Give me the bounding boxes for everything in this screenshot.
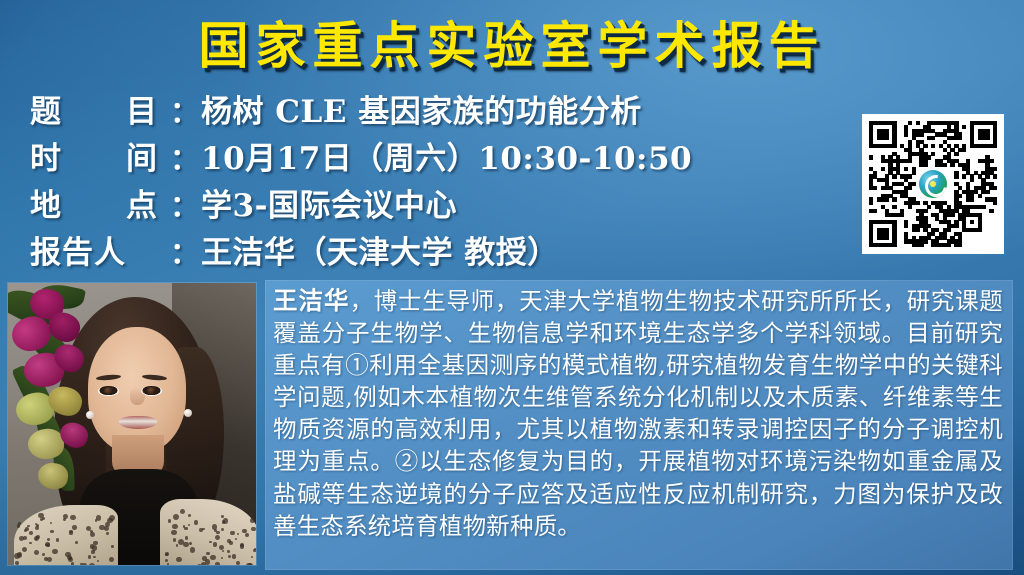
photo-lace-detail <box>210 555 216 561</box>
info-label-speaker: 报告人 <box>30 227 170 272</box>
photo-lace-detail <box>194 520 199 525</box>
photo-lace-detail <box>29 531 33 535</box>
photo-lace-detail <box>216 531 220 535</box>
photo-lace-detail <box>42 517 45 520</box>
photo-lace-detail <box>165 553 168 556</box>
info-colon-speaker: ： <box>170 230 199 272</box>
photo-lace-detail <box>109 515 115 521</box>
photo-lace-detail <box>90 530 93 533</box>
photo-lace-detail <box>183 542 189 548</box>
photo-lace-detail <box>93 556 95 558</box>
info-row-topic: 题 目 ： 杨树 CLE 基因家族的功能分析 <box>30 86 840 133</box>
photo-lace-detail <box>227 539 231 543</box>
photo-lace-detail <box>228 555 231 558</box>
photo-lace-detail <box>106 532 109 535</box>
photo-lace-detail <box>23 536 27 540</box>
photo-lace-detail <box>56 538 60 542</box>
poster-title-bar: 国家重点实验室学术报告 <box>0 8 1024 84</box>
photo-lace-detail <box>242 529 247 534</box>
speaker-photo-scene <box>8 283 256 565</box>
info-row-speaker: 报告人 ： 王洁华 （天津大学 教授） <box>30 227 840 274</box>
qr-code[interactable] <box>862 114 1004 254</box>
photo-lace-detail <box>206 552 210 556</box>
photo-lace-detail <box>230 531 235 536</box>
qr-logo-icon <box>916 167 950 201</box>
seminar-poster: 国家重点实验室学术报告 题 目 ： 杨树 CLE 基因家族的功能分析 时 间 ：… <box>0 0 1024 575</box>
photo-lace-detail <box>221 557 223 559</box>
photo-lace-detail <box>236 561 240 565</box>
speaker-bio-text: 王洁华，博士生导师，天津大学植物生物技术研究所所长，研究课题覆盖分子生物学、生物… <box>273 285 1003 542</box>
photo-lace-detail <box>82 563 87 565</box>
info-colon-location: ： <box>170 183 199 225</box>
photo-lace-detail <box>104 526 109 531</box>
photo-lace-detail <box>167 563 169 565</box>
photo-earring-right <box>184 409 192 417</box>
speaker-bio-panel: 王洁华，博士生导师，天津大学植物生物技术研究所所长，研究课题覆盖分子生物学、生物… <box>265 280 1013 570</box>
photo-lace-detail <box>22 547 27 552</box>
photo-lace-detail <box>215 562 220 565</box>
info-colon-topic: ： <box>170 89 199 131</box>
speaker-photo <box>8 283 256 565</box>
photo-lace-detail <box>93 541 97 545</box>
info-value-speaker-affiliation: （天津大学 教授） <box>296 227 559 272</box>
photo-lace-detail <box>69 531 73 535</box>
photo-earring-left <box>86 411 94 419</box>
photo-lace-detail <box>202 556 207 561</box>
photo-lace-detail <box>72 525 77 530</box>
info-row-time: 时 间 ： 10月17日（周六）10:30-10:50 <box>30 133 840 180</box>
info-value-topic: 杨树 CLE 基因家族的功能分析 <box>201 86 642 131</box>
photo-lace-detail <box>50 522 52 524</box>
speaker-bio-name: 王洁华 <box>273 286 350 315</box>
speaker-bio-body: ，博士生导师，天津大学植物生物技术研究所所长，研究课题覆盖分子生物学、生物信息学… <box>273 287 1003 540</box>
seminar-info-block: 题 目 ： 杨树 CLE 基因家族的功能分析 时 间 ： 10月17日（周六）1… <box>30 86 840 274</box>
photo-lace-detail <box>212 524 217 529</box>
photo-mouth <box>119 416 157 429</box>
photo-lace-detail <box>63 514 68 519</box>
photo-lace-detail <box>253 549 256 553</box>
photo-lace-detail <box>173 514 179 520</box>
info-value-location: 学3-国际会议中心 <box>201 180 457 225</box>
info-row-location: 地 点 ： 学3-国际会议中心 <box>30 180 840 227</box>
qr-code-matrix <box>869 121 997 247</box>
photo-lace-detail <box>17 552 22 557</box>
photo-lace-detail <box>90 544 94 548</box>
photo-lace-detail <box>219 545 224 550</box>
photo-lace-detail <box>246 563 252 566</box>
photo-lace-detail <box>251 556 253 558</box>
qr-logo-glyph <box>919 170 947 198</box>
photo-lace-detail <box>250 518 255 523</box>
photo-lace-detail <box>188 524 190 526</box>
photo-lace-detail <box>201 562 206 565</box>
info-value-time: 10月17日（周六）10:30-10:50 <box>201 133 692 178</box>
photo-lace-detail <box>88 555 92 559</box>
photo-lace-detail <box>177 565 182 566</box>
photo-lace-detail <box>189 542 192 545</box>
photo-lace-detail <box>240 544 244 548</box>
info-label-location: 地 点 <box>30 180 170 225</box>
photo-lace-detail <box>250 513 253 516</box>
photo-lace-detail <box>29 542 31 544</box>
info-label-topic: 题 目 <box>30 86 170 131</box>
info-colon-time: ： <box>170 136 199 178</box>
info-label-time: 时 间 <box>30 133 170 178</box>
photo-lace-detail <box>209 541 212 544</box>
photo-lace-detail <box>171 530 177 536</box>
photo-lace-detail <box>168 519 172 523</box>
photo-lace-detail <box>47 538 50 541</box>
photo-lace-detail <box>111 545 114 548</box>
info-value-speaker-name: 王洁华 <box>201 227 296 272</box>
photo-lace-detail <box>70 515 76 521</box>
photo-lace-detail <box>223 518 228 523</box>
photo-lace-detail <box>172 524 178 530</box>
page-title: 国家重点实验室学术报告 <box>199 21 826 71</box>
photo-lace-detail <box>221 528 224 531</box>
photo-lace-detail <box>75 541 78 544</box>
photo-lace-detail <box>50 530 53 533</box>
photo-nose <box>130 387 145 405</box>
photo-eye-left <box>98 386 119 396</box>
